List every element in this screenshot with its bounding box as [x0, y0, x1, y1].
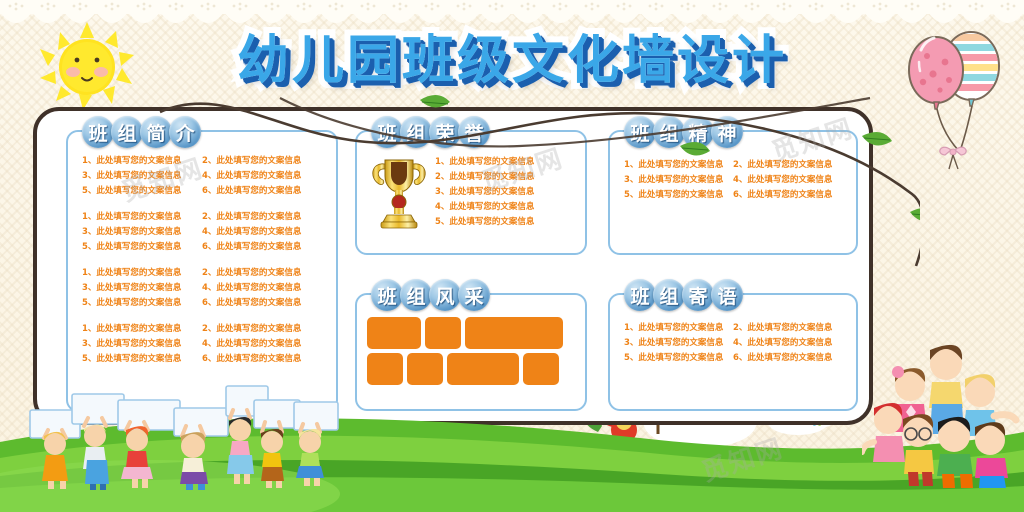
header-char: 班	[371, 279, 403, 311]
child-figure	[180, 426, 208, 490]
text-line: 3、此处填写您的文案信息4、此处填写您的文案信息	[624, 336, 842, 351]
panel-message: 班 组 寄 语 1、此处填写您的文案信息2、此处填写您的文案信息 3、此处填写您…	[608, 293, 858, 411]
header-char: 语	[711, 279, 743, 311]
child-figure	[121, 422, 153, 488]
header-char: 寄	[682, 279, 714, 311]
child-figure	[227, 410, 254, 484]
child-figure	[83, 418, 109, 490]
photo-placeholder[interactable]	[367, 353, 403, 385]
leafy-vine-icon	[120, 88, 920, 273]
child-figure	[862, 403, 905, 462]
text-line: 5、此处填写您的文案信息6、此处填写您的文案信息	[82, 296, 322, 311]
child-figure	[903, 414, 934, 486]
child-figure	[296, 424, 324, 486]
header-char: 组	[653, 279, 685, 311]
child-figure	[261, 422, 284, 488]
panel-style-header: 班 组 风 采	[371, 279, 490, 311]
child-figure	[42, 430, 68, 489]
photo-placeholder[interactable]	[367, 317, 421, 349]
ribbon-bow-icon	[940, 147, 966, 169]
panel-style: 班 组 风 采	[355, 293, 587, 411]
text-line: 1、此处填写您的文案信息2、此处填写您的文案信息	[624, 321, 842, 336]
text-line: 1、此处填写您的文案信息2、此处填写您的文案信息	[82, 322, 322, 337]
header-char: 采	[458, 279, 490, 311]
child-figure	[975, 422, 1008, 488]
photo-placeholder[interactable]	[425, 317, 461, 349]
photo-placeholder[interactable]	[465, 317, 563, 349]
photo-placeholder[interactable]	[407, 353, 443, 385]
photo-placeholder[interactable]	[523, 353, 559, 385]
photo-row	[367, 353, 575, 385]
header-char: 组	[400, 279, 432, 311]
poster-canvas: 幼儿园班级文化墙设计 幼儿园班级文化墙设计	[0, 0, 1024, 512]
child-figure	[937, 417, 973, 488]
text-line: 5、此处填写您的文案信息6、此处填写您的文案信息	[82, 352, 322, 367]
text-line: 5、此处填写您的文案信息6、此处填写您的文案信息	[624, 351, 842, 366]
header-char: 班	[82, 116, 114, 148]
text-line: 3、此处填写您的文案信息4、此处填写您的文案信息	[82, 337, 322, 352]
panel-message-header: 班 组 寄 语	[624, 279, 743, 311]
text-line: 3、此处填写您的文案信息4、此处填写您的文案信息	[82, 281, 322, 296]
header-char: 风	[429, 279, 461, 311]
header-char: 班	[624, 279, 656, 311]
kids-with-signboards-group	[22, 382, 342, 494]
text-paragraph: 1、此处填写您的文案信息2、此处填写您的文案信息 3、此处填写您的文案信息4、此…	[82, 322, 322, 367]
photo-placeholder[interactable]	[447, 353, 519, 385]
photo-row	[367, 317, 575, 349]
kids-group-right	[862, 338, 1024, 488]
page-title: 幼儿园班级文化墙设计	[0, 18, 1024, 93]
